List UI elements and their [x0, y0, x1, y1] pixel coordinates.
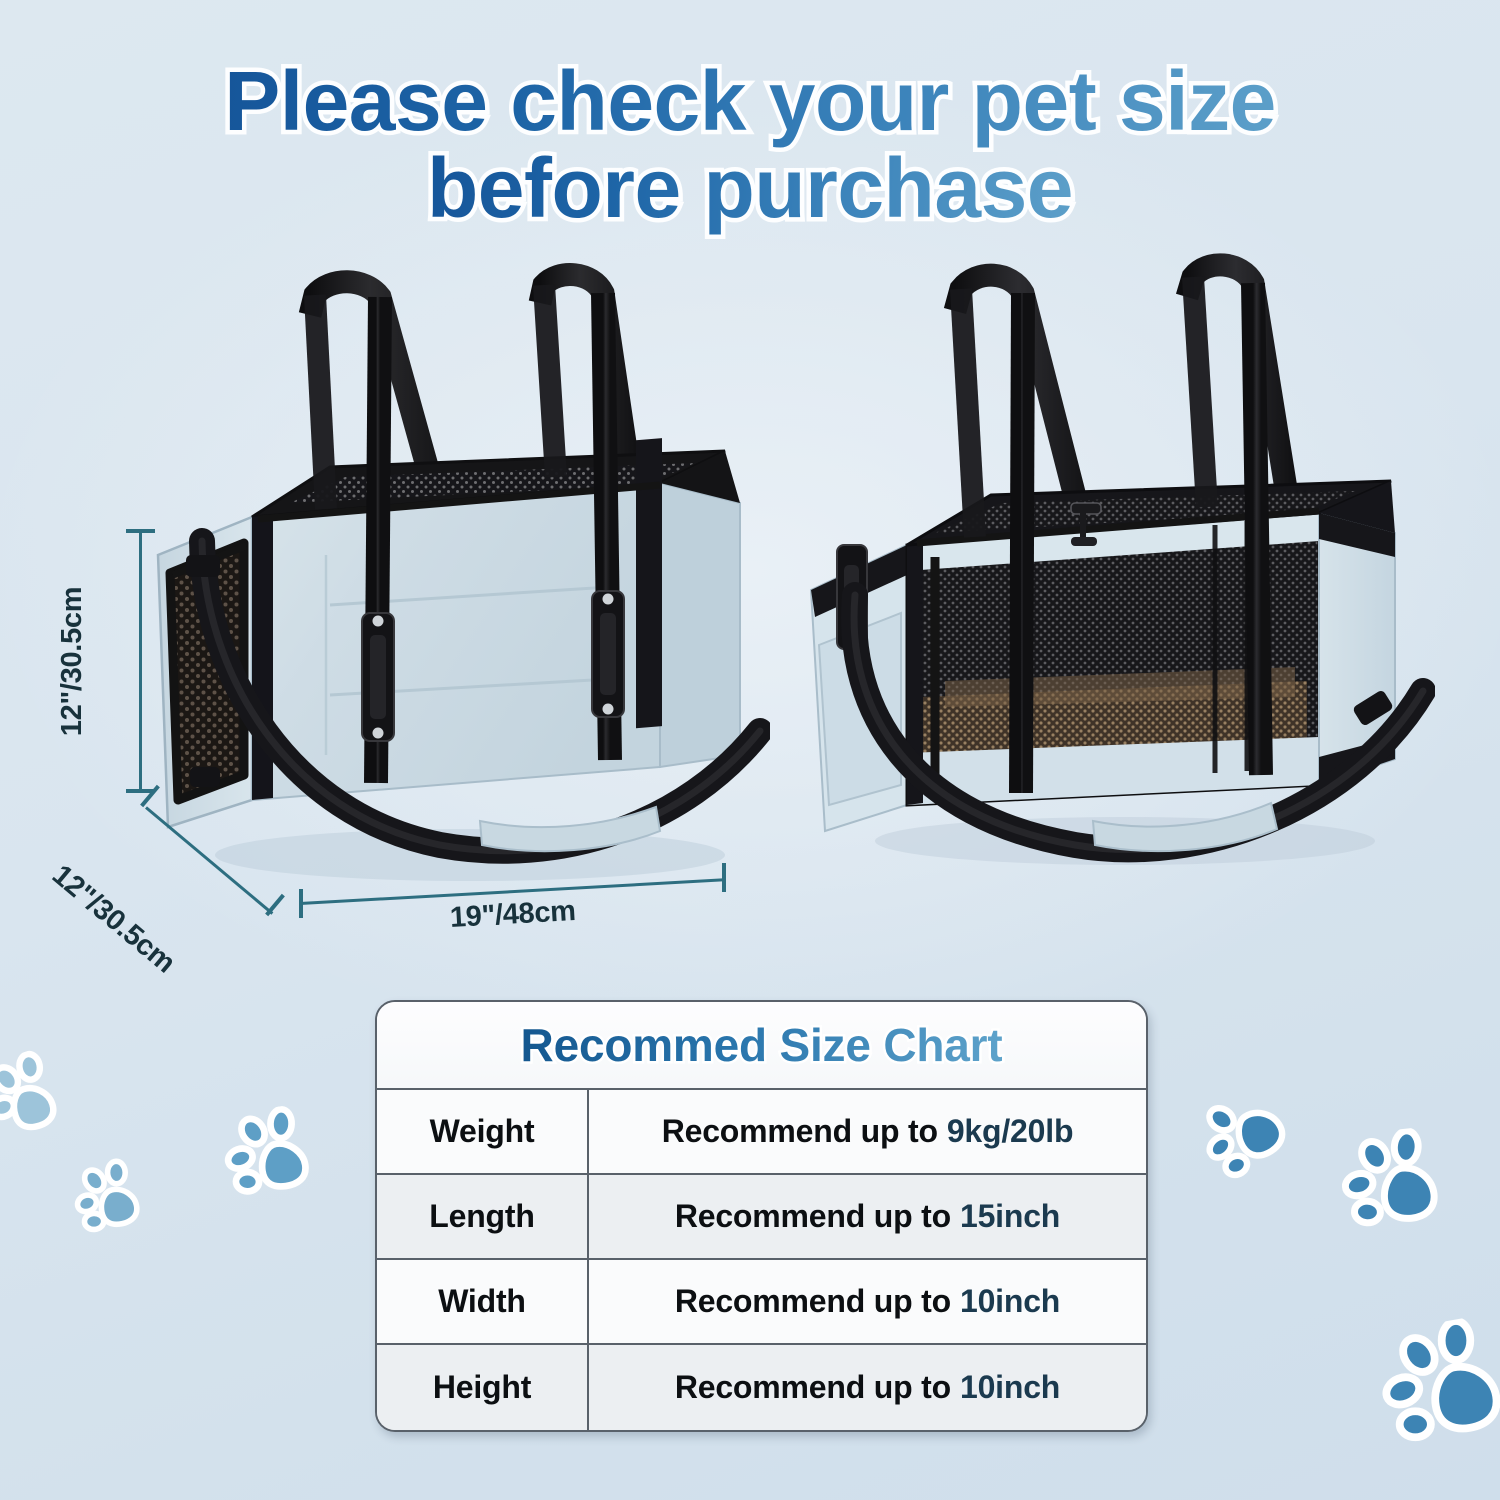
- row-label-length: Length: [377, 1175, 589, 1258]
- buckle: [362, 613, 394, 741]
- recommended-size-chart: Recommed Size Chart Recommed Size Chart …: [375, 1000, 1148, 1432]
- paw-print-decoration: [1185, 1069, 1312, 1196]
- row-value-weight: Recommend up to 9kg/20lb: [589, 1090, 1146, 1173]
- dimension-label-height: 12"/30.5cm: [56, 587, 89, 736]
- row-prefix-weight: Recommend up to: [662, 1113, 938, 1150]
- title-fill-1: Please check your pet size: [224, 54, 1276, 148]
- pet-carrier-front-view: [140, 255, 770, 900]
- paw-print-decoration: [1337, 1125, 1456, 1244]
- row-label-height: Height: [377, 1345, 589, 1430]
- row-value-length: Recommend up to 15inch: [589, 1175, 1146, 1258]
- row-value-height: Recommend up to 10inch: [589, 1345, 1146, 1430]
- table-row: Length Recommend up to 15inch: [377, 1175, 1146, 1260]
- dimension-label-length: 19"/48cm: [449, 895, 576, 935]
- page-title: Please check your pet size Please check …: [0, 58, 1500, 231]
- row-prefix-height: Recommend up to: [675, 1369, 951, 1406]
- table-row: Height Recommend up to 10inch: [377, 1345, 1146, 1430]
- row-highlight-weight: 9kg/20lb: [947, 1113, 1073, 1150]
- row-prefix-length: Recommend up to: [675, 1198, 951, 1235]
- row-label-width: Width: [377, 1260, 589, 1343]
- size-chart-title-fill: Recommed Size Chart: [521, 1019, 1003, 1071]
- table-row: Width Recommend up to 10inch: [377, 1260, 1146, 1345]
- paw-print-decoration: [65, 1151, 160, 1246]
- title-fill-2: before purchase: [427, 141, 1073, 235]
- table-row: Weight Recommend up to 9kg/20lb: [377, 1090, 1146, 1175]
- row-highlight-height: 10inch: [960, 1369, 1060, 1406]
- paw-print-decoration: [1372, 1312, 1500, 1463]
- row-prefix-width: Recommend up to: [675, 1283, 951, 1320]
- row-highlight-width: 10inch: [960, 1283, 1060, 1320]
- paw-print-decoration: [218, 1102, 326, 1210]
- row-value-width: Recommend up to 10inch: [589, 1260, 1146, 1343]
- paw-print-decoration: [0, 1040, 90, 1156]
- page-title-line-1: Please check your pet size Please check …: [0, 58, 1500, 145]
- row-highlight-length: 15inch: [960, 1198, 1060, 1235]
- dimension-cap-length-right: [722, 863, 726, 892]
- dimension-cap-height-top: [126, 529, 155, 533]
- infographic-canvas: Please check your pet size Please check …: [0, 0, 1500, 1500]
- size-chart-header: Recommed Size Chart Recommed Size Chart: [377, 1002, 1146, 1090]
- dimension-cap-length-left: [299, 889, 303, 918]
- dimension-line-height: [139, 530, 142, 792]
- buckle: [592, 591, 624, 717]
- row-label-weight: Weight: [377, 1090, 589, 1173]
- size-chart-title: Recommed Size Chart Recommed Size Chart: [521, 1018, 1003, 1072]
- page-title-line-2: before purchase before purchase: [0, 145, 1500, 232]
- pet-carrier-side-view: [795, 245, 1435, 890]
